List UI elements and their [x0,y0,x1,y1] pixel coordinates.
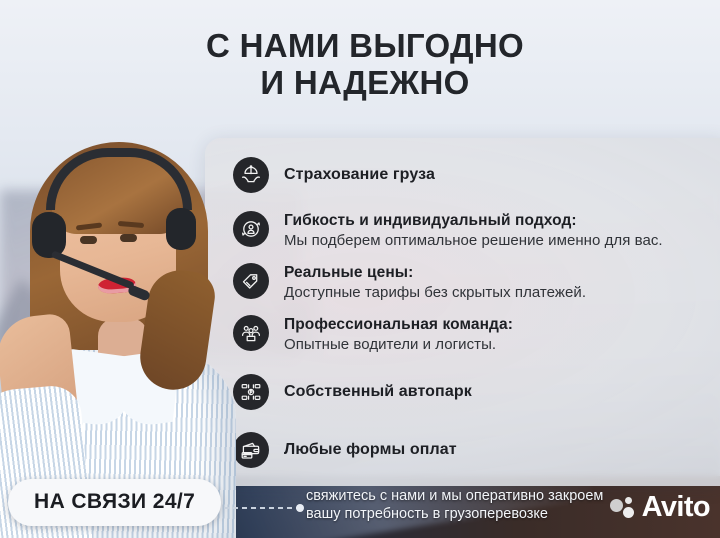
feature-text-fleet: Собственный автопарк [284,381,472,402]
avito-dots-icon [610,497,637,519]
feature-title: Собственный автопарк [284,383,472,400]
feature-subtitle: Доступные тарифы без скрытых платежей. [284,283,586,303]
feature-item-payment: Любые формы оплат [233,431,717,468]
avito-wordmark: Avito [642,493,710,522]
headline: С НАМИ ВЫГОДНО И НАДЕЖНО [150,28,580,102]
headline-line-2: И НАДЕЖНО [150,65,580,102]
feature-text-team: Профессиональная команда: Опытные водите… [284,314,513,355]
feature-text-insurance: Страхование груза [284,164,435,185]
feature-title: Страхование груза [284,166,435,183]
feature-text-payment: Любые формы оплат [284,439,457,460]
headset-earcup-right [166,208,196,250]
operator-photo [0,120,244,538]
feature-subtitle: Опытные водители и логисты. [284,335,513,355]
bottom-bar-text: свяжитесь с нами и мы оперативно закроем… [306,487,606,524]
bottom-text-line-2: вашу потребность в грузоперевозке [306,505,606,524]
feature-item-team: Профессиональная команда: Опытные водите… [233,314,717,355]
feature-title: Реальные цены: [284,264,413,281]
connector-dot [296,504,304,512]
feature-text-prices: Реальные цены: Доступные тарифы без скры… [284,262,586,303]
avito-logo: Avito [610,493,710,522]
features-card: Страхование груза Гибкость и индивидуаль… [205,138,720,486]
feature-item-insurance: Страхование груза [233,156,717,193]
bottom-text-line-1: свяжитесь с нами и мы оперативно закроем [306,487,606,506]
feature-subtitle: Мы подберем оптимальное решение именно д… [284,231,663,251]
advertisement-banner: С НАМИ ВЫГОДНО И НАДЕЖНО Страхование [0,0,720,538]
eye-left [80,236,97,244]
feature-title: Гибкость и индивидуальный подход: [284,212,577,229]
feature-text-flexibility: Гибкость и индивидуальный подход: Мы под… [284,210,663,251]
feature-title: Профессиональная команда: [284,316,513,333]
feature-item-fleet: Собственный автопарк [233,373,717,410]
status-badge: НА СВЯЗИ 24/7 [8,479,221,526]
headline-line-1: С НАМИ ВЫГОДНО [206,27,524,64]
feature-title: Любые формы оплат [284,441,457,458]
feature-item-flexibility: Гибкость и индивидуальный подход: Мы под… [233,210,717,251]
feature-item-prices: Реальные цены: Доступные тарифы без скры… [233,262,717,303]
headset-earcup-left [32,212,66,258]
eye-right [120,234,137,242]
dashed-connector-line [224,507,300,509]
